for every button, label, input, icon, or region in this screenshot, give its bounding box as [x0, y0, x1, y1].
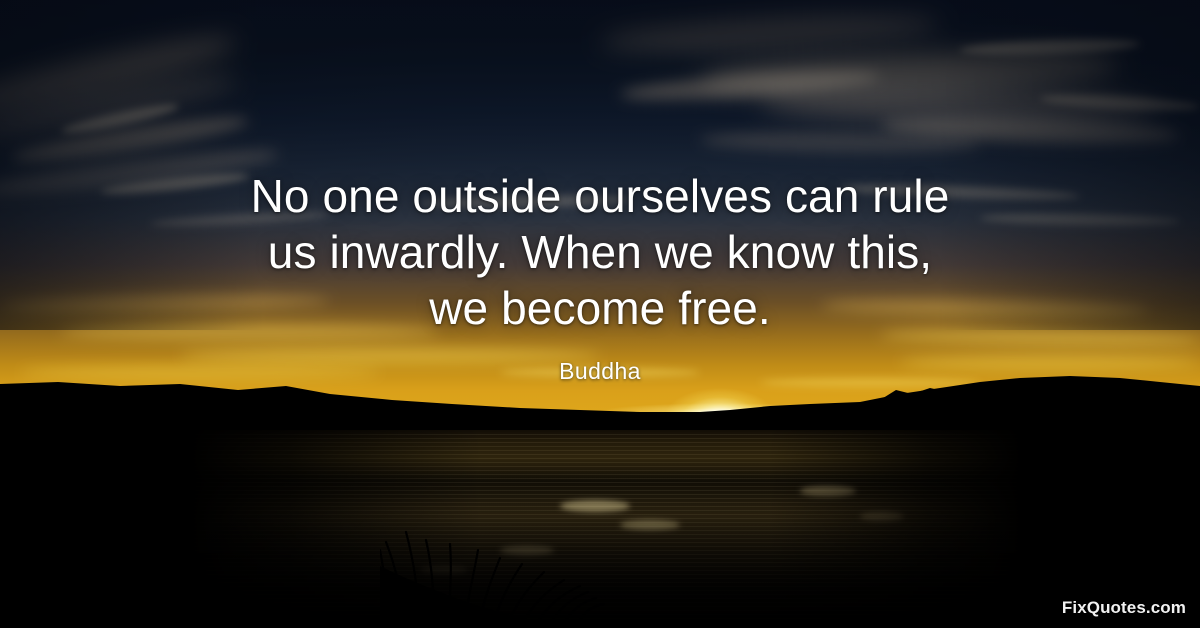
- quote-image-canvas: No one outside ourselves can rule us inw…: [0, 0, 1200, 628]
- quote-block: No one outside ourselves can rule us inw…: [0, 168, 1200, 336]
- reed-silhouette: [380, 470, 720, 628]
- site-watermark: FixQuotes.com: [1062, 598, 1186, 618]
- quote-author: Buddha: [0, 358, 1200, 385]
- quote-text: No one outside ourselves can rule us inw…: [120, 168, 1080, 336]
